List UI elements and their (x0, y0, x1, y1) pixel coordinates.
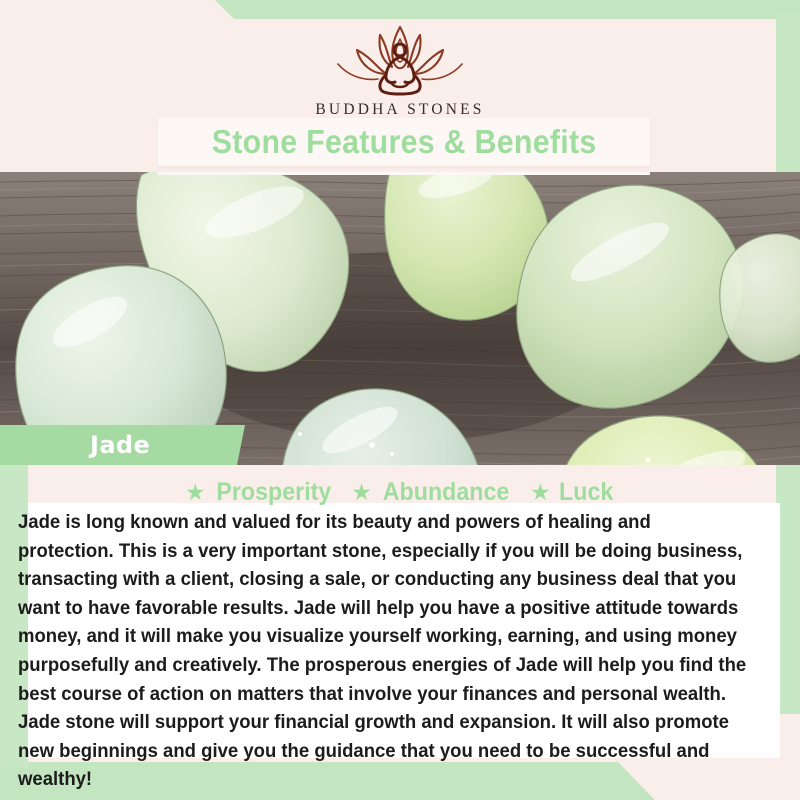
star-icon: ★ (530, 481, 551, 504)
description-text: Jade is long known and valued for its be… (18, 508, 751, 794)
title-banner: Stone Features & Benefits (158, 118, 650, 166)
benefit-label: Prosperity (216, 478, 331, 507)
benefit-item-prosperity: ★ Prosperity (185, 478, 335, 507)
star-icon: ★ (351, 481, 372, 504)
stone-photo-image (0, 172, 800, 465)
lotus-meditating-figure-icon (324, 22, 476, 96)
stone-name-label: Jade (90, 431, 150, 459)
star-icon: ★ (185, 481, 206, 504)
stone-name-band: Jade (0, 425, 250, 465)
stone-photo (0, 172, 800, 465)
benefits-row: ★ Prosperity ★ Abundance ★ Luck (0, 478, 800, 507)
benefit-label: Abundance (383, 478, 510, 507)
stone-info-poster: BUDDHA STONES (0, 0, 800, 800)
photo-notch (158, 172, 650, 175)
benefit-item-abundance: ★ Abundance (351, 478, 514, 507)
benefit-label: Luck (559, 478, 613, 507)
decorative-band-top-right (0, 0, 800, 19)
brand-name: BUDDHA STONES (0, 101, 800, 119)
brand-logo: BUDDHA STONES (0, 22, 800, 119)
benefit-item-luck: ★ Luck (530, 478, 615, 507)
page-title: Stone Features & Benefits (212, 123, 597, 161)
